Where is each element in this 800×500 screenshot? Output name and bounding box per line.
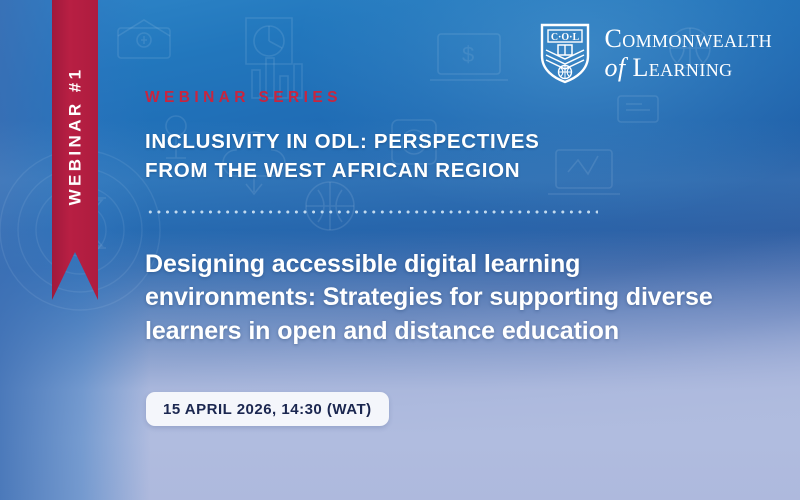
- subtitle-line-1: Designing accessible digital learning: [145, 248, 770, 281]
- webinar-series-title: INCLUSIVITY IN ODL: PERSPECTIVES FROM TH…: [145, 127, 540, 185]
- subtitle-line-2: environments: Strategies for supporting …: [145, 281, 770, 314]
- ribbon-label-wrap: WEBINAR #1: [52, 0, 98, 272]
- dotted-divider: [146, 210, 598, 214]
- webinar-poster: $: [0, 0, 800, 500]
- title-line-1: INCLUSIVITY IN ODL: PERSPECTIVES: [145, 127, 540, 156]
- title-line-2: FROM THE WEST AFRICAN REGION: [145, 156, 540, 185]
- content-column: WEBINAR SERIES INCLUSIVITY IN ODL: PERSP…: [145, 0, 785, 500]
- ribbon-label-text: WEBINAR #1: [65, 67, 85, 206]
- subtitle-line-3: learners in open and distance education: [145, 315, 770, 348]
- webinar-topic-subtitle: Designing accessible digital learning en…: [145, 248, 770, 348]
- webinar-series-eyebrow: WEBINAR SERIES: [145, 89, 342, 107]
- event-date-badge: 15 APRIL 2026, 14:30 (WAT): [146, 392, 389, 426]
